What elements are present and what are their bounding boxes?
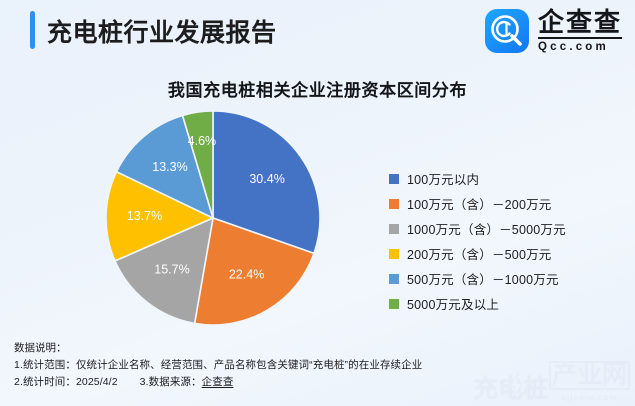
watermark-cn-text: 充电桩 bbox=[473, 377, 548, 402]
notes-time-source-line: 2.统计时间：2025/4/23.数据来源：企查查 bbox=[14, 374, 484, 391]
legend-color-swatch bbox=[389, 274, 399, 284]
legend-item[interactable]: 5000万元及以上 bbox=[389, 291, 624, 316]
legend-item[interactable]: 1000万元（含）－5000万元 bbox=[389, 216, 624, 241]
qcc-wordmark: 企查查 Qcc.com bbox=[538, 9, 622, 54]
legend-color-swatch bbox=[389, 224, 399, 234]
page-header: 充电桩行业发展报告 企查查 Qcc.com bbox=[0, 0, 635, 60]
pie-slice-label: 30.4% bbox=[249, 172, 284, 186]
data-notes: 数据说明： 1.统计范围：仅统计企业名称、经营范围、产品名称包含关键词“充电桩”… bbox=[14, 340, 484, 391]
legend-item-label: 200万元（含）－500万元 bbox=[407, 244, 552, 263]
page-title: 充电桩行业发展报告 bbox=[47, 13, 277, 49]
legend-item[interactable]: 500万元（含）－1000万元 bbox=[389, 266, 624, 291]
legend-color-swatch bbox=[389, 174, 399, 184]
legend-color-swatch bbox=[389, 299, 399, 309]
watermark-cn-part2: 电桩 bbox=[498, 375, 548, 403]
legend-item-label: 100万元以内 bbox=[407, 169, 479, 188]
qcc-logo-en: Qcc.com bbox=[538, 42, 622, 54]
pie-slice-label: 4.6% bbox=[188, 134, 217, 148]
pie-slice-label: 13.7% bbox=[127, 209, 162, 223]
pie-slice-label: 13.3% bbox=[152, 160, 187, 174]
legend-item[interactable]: 200万元（含）－500万元 bbox=[389, 241, 624, 266]
legend-item-label: 5000万元及以上 bbox=[407, 294, 499, 313]
qcc-magnifier-icon bbox=[485, 9, 529, 53]
pie-chart-svg: 30.4%22.4%15.7%13.7%13.3%4.6% bbox=[105, 110, 321, 326]
notes-source-label: 3.数据来源： bbox=[140, 376, 202, 388]
legend-item-label: 500万元（含）－1000万元 bbox=[407, 269, 559, 288]
qcc-logo-cn: 企查查 bbox=[538, 9, 622, 39]
site-watermark: 充电桩 产业网 xjjsww.com bbox=[473, 361, 630, 402]
lightning-bolt-icon bbox=[508, 373, 524, 399]
notes-time-value: 2025/4/2 bbox=[76, 376, 118, 388]
pie-slice-label: 15.7% bbox=[154, 262, 189, 276]
legend-color-swatch bbox=[389, 249, 399, 259]
legend-item-label: 1000万元（含）－5000万元 bbox=[407, 219, 566, 238]
watermark-url: xjjsww.com bbox=[561, 392, 618, 402]
watermark-boxed-text: 产业网 bbox=[549, 361, 630, 390]
pie-slice-label: 22.4% bbox=[229, 267, 264, 281]
notes-scope-line: 1.统计范围：仅统计企业名称、经营范围、产品名称包含关键词“充电桩”的在业存续企… bbox=[14, 357, 484, 374]
title-accent-bar bbox=[30, 11, 35, 49]
watermark-box: 产业网 xjjsww.com bbox=[549, 361, 630, 402]
qcc-logo[interactable]: 企查查 Qcc.com bbox=[485, 8, 622, 54]
legend-item[interactable]: 100万元（含）－200万元 bbox=[389, 191, 624, 216]
legend-color-swatch bbox=[389, 199, 399, 209]
pie-chart: 30.4%22.4%15.7%13.7%13.3%4.6% bbox=[105, 110, 321, 326]
legend-item[interactable]: 100万元以内 bbox=[389, 166, 624, 191]
notes-time-label: 2.统计时间： bbox=[14, 376, 76, 388]
legend-item-label: 100万元（含）－200万元 bbox=[407, 194, 552, 213]
chart-legend: 100万元以内100万元（含）－200万元1000万元（含）－5000万元200… bbox=[389, 166, 624, 316]
notes-source-value[interactable]: 企查查 bbox=[202, 376, 234, 388]
notes-heading: 数据说明： bbox=[14, 340, 484, 357]
chart-title: 我国充电桩相关企业注册资本区间分布 bbox=[0, 76, 635, 101]
